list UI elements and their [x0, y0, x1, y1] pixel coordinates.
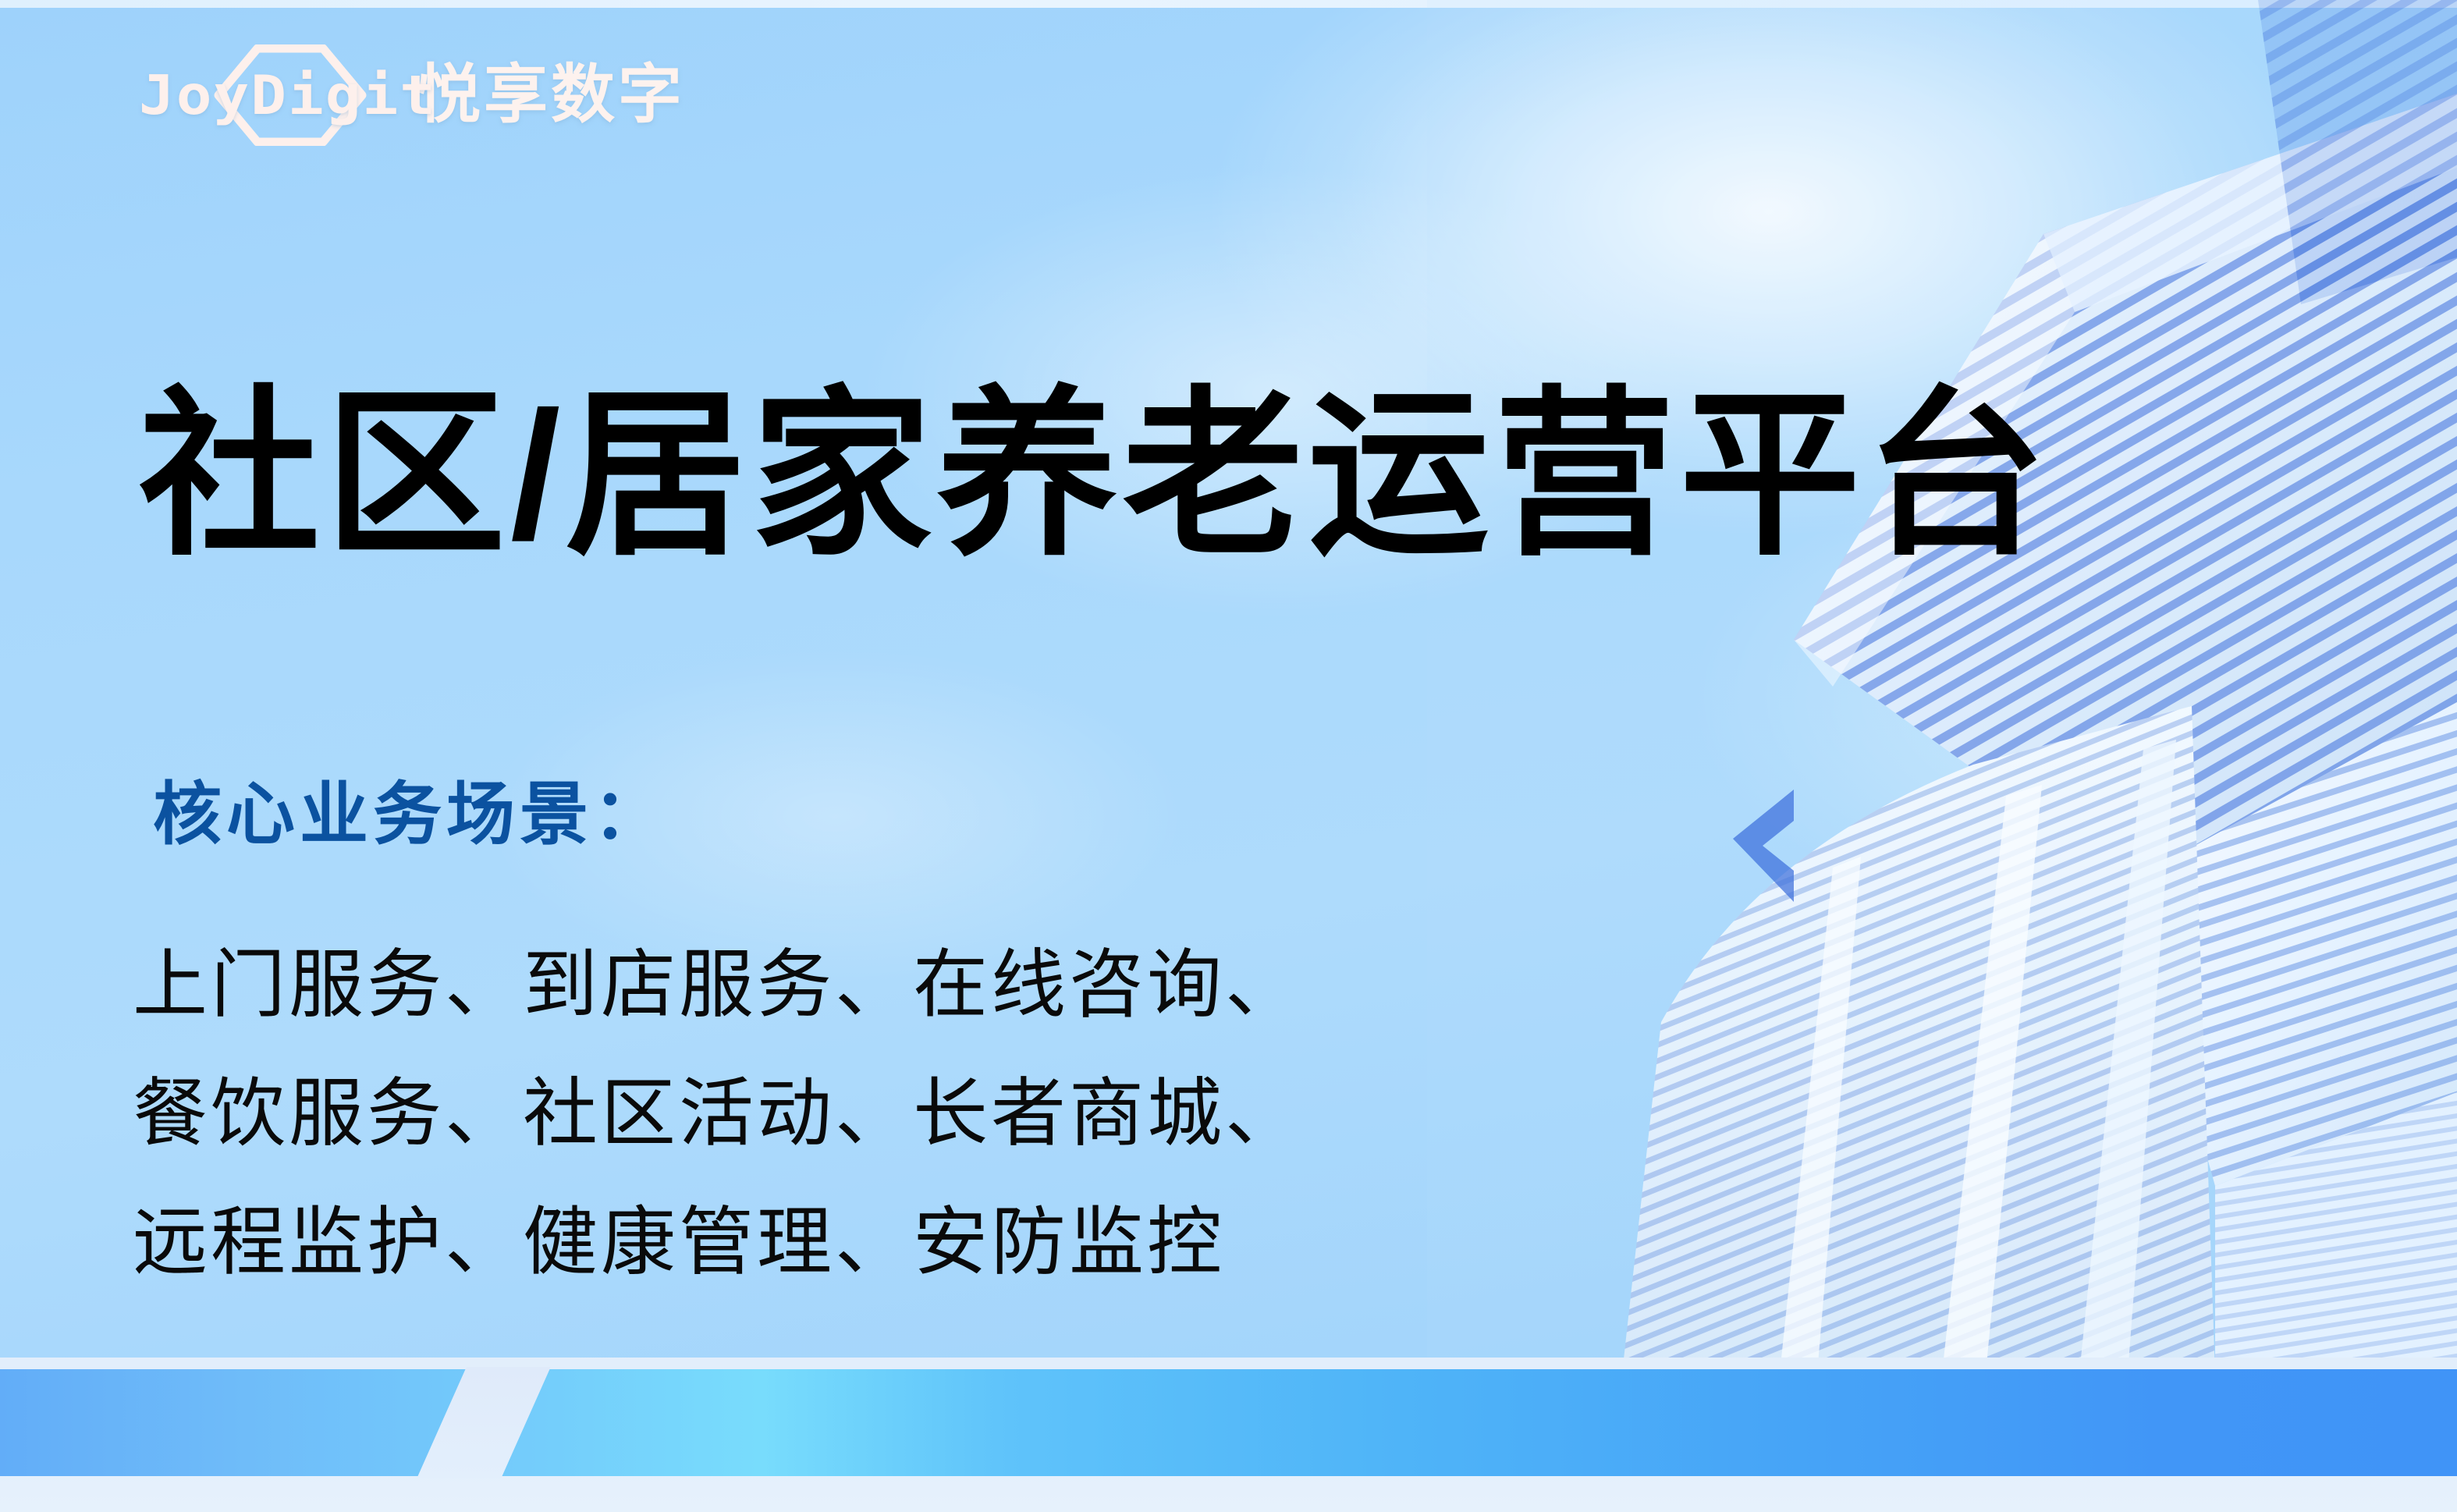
scenario-line: 上门服务、到店服务、在线咨询、: [133, 921, 1303, 1049]
scenario-line: 远程监护、健康管理、安防监控: [133, 1178, 1303, 1307]
logo-mark: JoyDigit: [139, 49, 396, 141]
slide-root: JoyDigit 悦享数字 社区/居家养老运营平台 核心业务场景： 上门服务、到…: [0, 0, 2457, 1512]
logo-latin-text: JoyDigit: [139, 68, 437, 122]
footer-decoration: [0, 1358, 2457, 1512]
page-title: 社区/居家养老运营平台: [139, 378, 2050, 574]
scenario-line: 餐饮服务、社区活动、长者商城、: [133, 1049, 1303, 1178]
logo-chinese-text: 悦享数字: [417, 63, 685, 127]
section-label: 核心业务场景：: [153, 780, 666, 849]
brand-logo: JoyDigit 悦享数字: [139, 48, 685, 142]
top-edge-strip: [0, 0, 2457, 8]
footer-color-band: [0, 1369, 2457, 1476]
scenario-list: 上门服务、到店服务、在线咨询、 餐饮服务、社区活动、长者商城、 远程监护、健康管…: [133, 921, 1303, 1307]
